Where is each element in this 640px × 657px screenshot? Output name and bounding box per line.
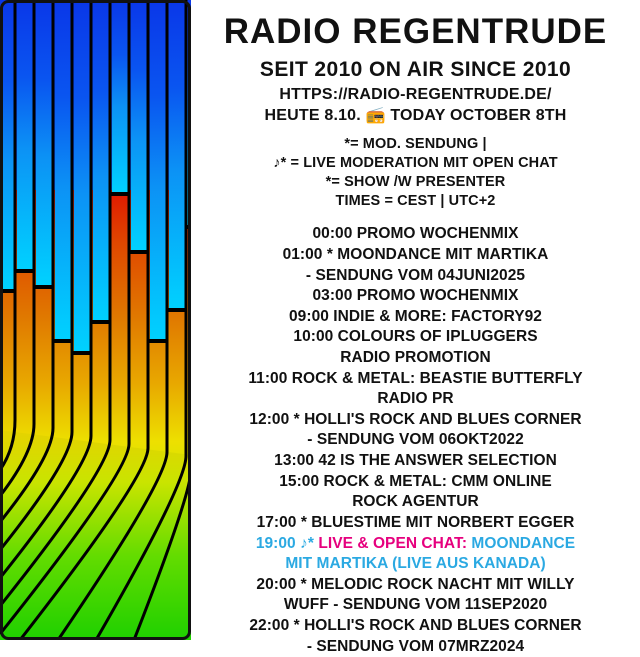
schedule-item: - SENDUNG VOM 06OKT2022 (197, 430, 634, 451)
legend-line-3: *= SHOW /W PRESENTER (197, 173, 634, 192)
schedule-item: 00:00 PROMO WOCHENMIX (197, 224, 634, 245)
schedule-item: 01:00 * MOONDANCE MIT MARTIKA (197, 245, 634, 266)
schedule-item: ROCK AGENTUR (197, 492, 634, 513)
schedule-item-featured: 19:00 ♪* LIVE & OPEN CHAT: MOONDANCE (197, 534, 634, 555)
featured-show-line2: MIT MARTIKA (LIVE AUS KANADA) (197, 554, 634, 575)
schedule-item: RADIO PR (197, 389, 634, 410)
radio-icon: 📻 (366, 107, 386, 124)
today-suffix: TODAY OCTOBER 8TH (386, 107, 567, 124)
legend-line-4: TIMES = CEST | UTC+2 (197, 192, 634, 211)
poster-root: RADIO REGENTRUDE SEIT 2010 ON AIR SINCE … (0, 0, 640, 640)
schedule-item: 10:00 COLOURS OF IPLUGGERS (197, 327, 634, 348)
schedule-item: 09:00 INDIE & MORE: FACTORY92 (197, 307, 634, 328)
schedule-item: RADIO PROMOTION (197, 348, 634, 369)
schedule-item: 03:00 PROMO WOCHENMIX (197, 286, 634, 307)
legend-block: *= MOD. SENDUNG | ♪* = LIVE MODERATION M… (197, 135, 634, 210)
schedule-item: 13:00 42 IS THE ANSWER SELECTION (197, 451, 634, 472)
schedule-item: - SENDUNG VOM 04JUNI2025 (197, 266, 634, 287)
featured-time: 19:00 (256, 535, 296, 552)
featured-label: LIVE & OPEN CHAT: (318, 535, 467, 552)
graphic-svg (0, 0, 191, 640)
schedule-item: 17:00 * BLUESTIME MIT NORBERT EGGER (197, 513, 634, 534)
station-url[interactable]: HTTPS://RADIO-REGENTRUDE.DE/ (197, 87, 634, 103)
today-date-line: HEUTE 8.10. 📻 TODAY OCTOBER 8TH (197, 108, 634, 124)
today-prefix: HEUTE 8.10. (264, 107, 365, 124)
schedule-item: 12:00 * HOLLI'S ROCK AND BLUES CORNER (197, 410, 634, 431)
schedule-item: 15:00 ROCK & METAL: CMM ONLINE (197, 472, 634, 493)
schedule-panel: RADIO REGENTRUDE SEIT 2010 ON AIR SINCE … (191, 0, 640, 640)
schedule-item: WUFF - SENDUNG VOM 11SEP2020 (197, 595, 634, 616)
music-note-icon: ♪* (300, 535, 314, 552)
legend-line-1: *= MOD. SENDUNG | (197, 135, 634, 154)
station-title: RADIO REGENTRUDE (197, 14, 634, 49)
legend-line-2: ♪* = LIVE MODERATION MIT OPEN CHAT (197, 154, 634, 173)
schedule-item: 20:00 * MELODIC ROCK NACHT MIT WILLY (197, 575, 634, 596)
station-subtitle: SEIT 2010 ON AIR SINCE 2010 (197, 59, 634, 80)
equalizer-bars-graphic (0, 0, 191, 640)
schedule-item: 11:00 ROCK & METAL: BEASTIE BUTTERFLY (197, 369, 634, 390)
schedule-list: 00:00 PROMO WOCHENMIX 01:00 * MOONDANCE … (197, 224, 634, 657)
featured-show: MOONDANCE (471, 535, 575, 552)
schedule-item: 22:00 * HOLLI'S ROCK AND BLUES CORNER (197, 616, 634, 637)
